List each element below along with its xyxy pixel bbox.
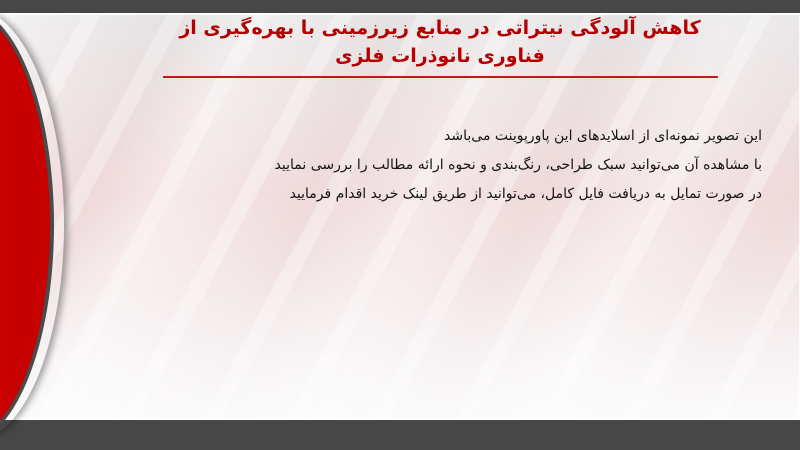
panel-bottom-edge bbox=[0, 418, 800, 420]
slide-title-line-1: کاهش آلودگی نیتراتی در منابع زیرزمینی با… bbox=[120, 14, 760, 42]
title-underline-rule bbox=[163, 76, 718, 78]
body-line-1: این تصویر نمونه‌ای از اسلایدهای این پاور… bbox=[120, 122, 762, 151]
presentation-slide: کاهش آلودگی نیتراتی در منابع زیرزمینی با… bbox=[0, 0, 800, 450]
slide-title: کاهش آلودگی نیتراتی در منابع زیرزمینی با… bbox=[120, 14, 760, 78]
slide-body: این تصویر نمونه‌ای از اسلایدهای این پاور… bbox=[120, 122, 762, 209]
body-line-3: در صورت تمایل به دریافت فایل کامل، می‌تو… bbox=[120, 180, 762, 209]
body-line-2: با مشاهده آن می‌توانید سبک طراحی، رنگ‌بن… bbox=[120, 151, 762, 180]
slide-title-line-2: فناوری نانوذرات فلزی bbox=[120, 42, 760, 70]
